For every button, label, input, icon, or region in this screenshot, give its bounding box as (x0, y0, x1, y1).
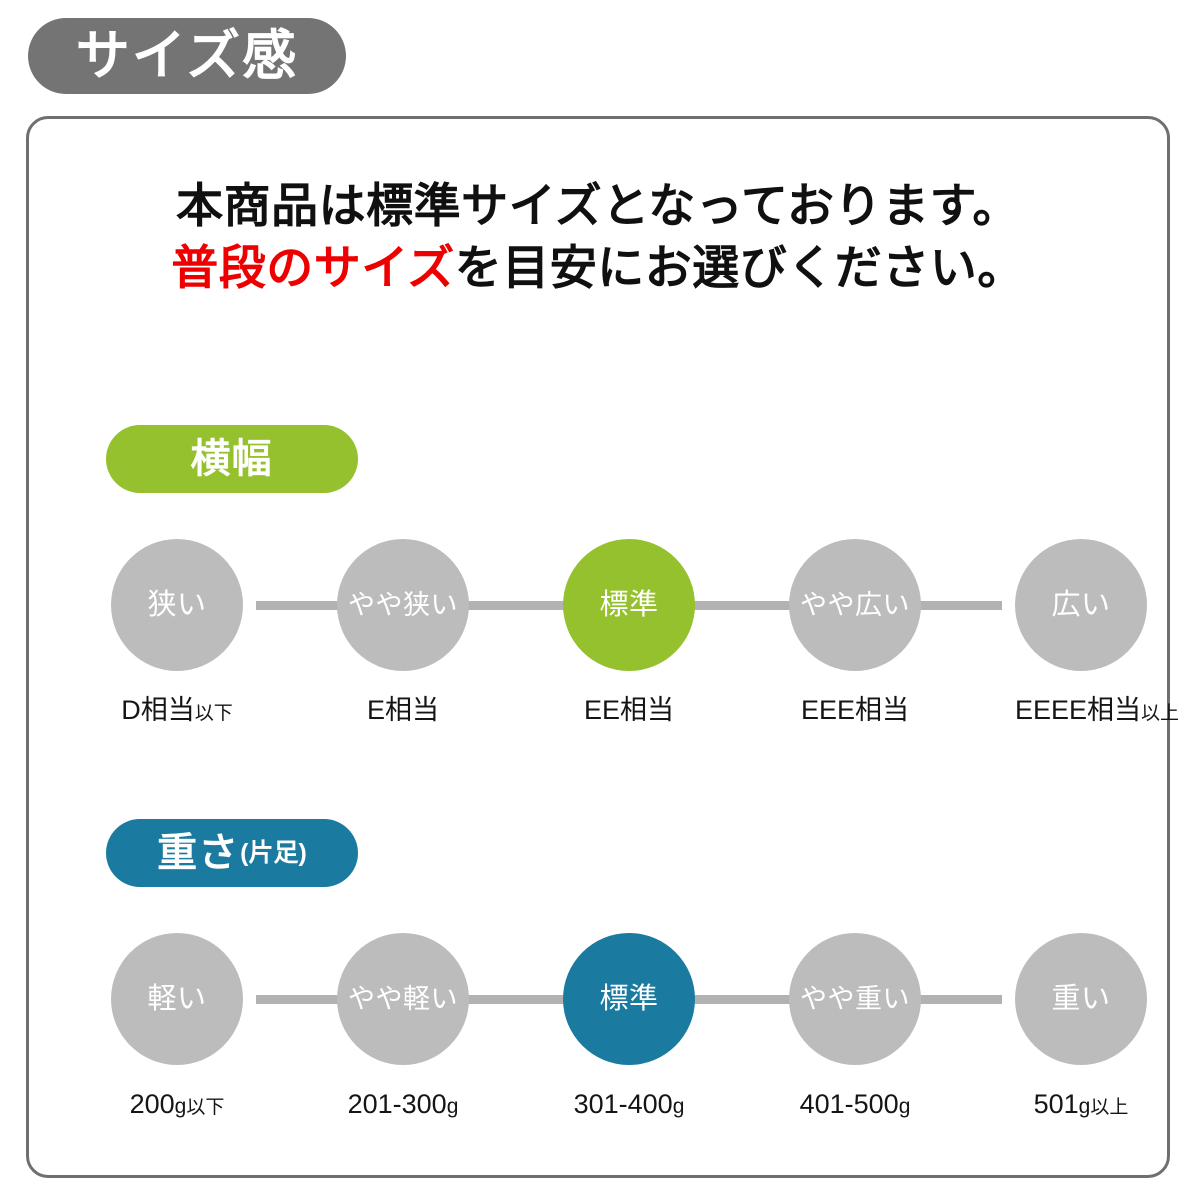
width-caption-4-sub: 以上 (1141, 703, 1179, 724)
width-captions: D相当以下 E相当 EE相当 EEE相当 EEEE相当以上 (111, 697, 1147, 724)
width-node-0[interactable]: 狭い (111, 539, 243, 671)
intro-accent-text: 普段のサイズ (171, 241, 455, 294)
weight-caption-0: 200g以下 (111, 1091, 243, 1118)
weight-caption-4: 501g以上 (1015, 1091, 1147, 1118)
width-caption-4-main: EEEE相当 (1015, 695, 1141, 725)
width-node-2[interactable]: 標準 (563, 539, 695, 671)
width-node-4[interactable]: 広い (1015, 539, 1147, 671)
weight-node-3[interactable]: やや重い (789, 933, 921, 1065)
width-node-4-label: 広い (1051, 591, 1110, 620)
weight-node-4-label: 重い (1051, 985, 1110, 1014)
weight-caption-0-unit: g (175, 1095, 187, 1118)
weight-caption-4-main: 501 (1034, 1089, 1079, 1119)
weight-caption-2-main: 301-400 (574, 1089, 673, 1119)
weight-captions: 200g以下 201-300g 301-400g 401-500g 501g以上 (111, 1091, 1147, 1118)
weight-node-0[interactable]: 軽い (111, 933, 243, 1065)
width-node-1[interactable]: やや狭い (337, 539, 469, 671)
width-caption-0: D相当以下 (111, 697, 243, 724)
width-caption-4: EEEE相当以上 (1015, 697, 1147, 724)
width-caption-1-main: E相当 (367, 695, 439, 725)
weight-caption-3: 401-500g (789, 1091, 921, 1118)
width-caption-0-sub: 以下 (195, 703, 233, 724)
intro-line-2: 普段のサイズを目安にお選びください。 (29, 237, 1167, 299)
weight-caption-3-main: 401-500 (800, 1089, 899, 1119)
weight-node-1[interactable]: やや軽い (337, 933, 469, 1065)
weight-caption-2: 301-400g (563, 1091, 695, 1118)
weight-caption-4-sub: 以上 (1090, 1097, 1128, 1118)
header-title: サイズ感 (76, 29, 298, 83)
intro-message: 本商品は標準サイズとなっております。 普段のサイズを目安にお選びください。 (29, 175, 1167, 299)
intro-rest-text: を目安にお選びください。 (455, 241, 1025, 294)
width-caption-1: E相当 (337, 697, 469, 724)
weight-node-3-label: やや重い (800, 986, 910, 1013)
width-node-1-label: やや狭い (348, 592, 458, 619)
section-badge-weight-label: 重さ (157, 833, 239, 873)
weight-caption-4-unit: g (1079, 1095, 1091, 1118)
weight-node-2-label: 標準 (599, 985, 658, 1014)
weight-node-4[interactable]: 重い (1015, 933, 1147, 1065)
section-badge-width-label: 横幅 (191, 439, 273, 479)
section-badge-width: 横幅 (106, 425, 358, 493)
weight-caption-1: 201-300g (337, 1091, 469, 1118)
intro-line-1: 本商品は標準サイズとなっております。 (29, 175, 1167, 237)
width-caption-3: EEE相当 (789, 697, 921, 724)
weight-caption-1-main: 201-300 (348, 1089, 447, 1119)
width-scale-nodes: 狭い やや狭い 標準 やや広い 広い (111, 537, 1147, 673)
weight-scale: 軽い やや軽い 標準 やや重い 重い (111, 931, 1147, 1067)
weight-caption-0-sub: 以下 (186, 1097, 224, 1118)
width-scale: 狭い やや狭い 標準 やや広い 広い (111, 537, 1147, 673)
weight-caption-2-unit: g (673, 1095, 685, 1118)
weight-node-0-label: 軽い (147, 985, 206, 1014)
width-node-2-label: 標準 (599, 591, 658, 620)
weight-node-2[interactable]: 標準 (563, 933, 695, 1065)
weight-scale-nodes: 軽い やや軽い 標準 やや重い 重い (111, 931, 1147, 1067)
width-node-3-label: やや広い (800, 592, 910, 619)
weight-caption-0-main: 200 (130, 1089, 175, 1119)
weight-node-1-label: やや軽い (348, 986, 458, 1013)
section-badge-weight-sub: (片足) (240, 841, 307, 866)
section-badge-weight: 重さ (片足) (106, 819, 358, 887)
size-feel-header-badge: サイズ感 (28, 18, 346, 94)
width-node-3[interactable]: やや広い (789, 539, 921, 671)
width-caption-2: EE相当 (563, 697, 695, 724)
width-caption-2-main: EE相当 (584, 695, 674, 725)
width-caption-3-main: EEE相当 (801, 695, 909, 725)
size-guide-card: 本商品は標準サイズとなっております。 普段のサイズを目安にお選びください。 横幅… (26, 116, 1170, 1178)
width-caption-0-main: D相当 (121, 695, 195, 725)
width-node-0-label: 狭い (147, 591, 206, 620)
weight-caption-1-unit: g (447, 1095, 459, 1118)
weight-caption-3-unit: g (899, 1095, 911, 1118)
